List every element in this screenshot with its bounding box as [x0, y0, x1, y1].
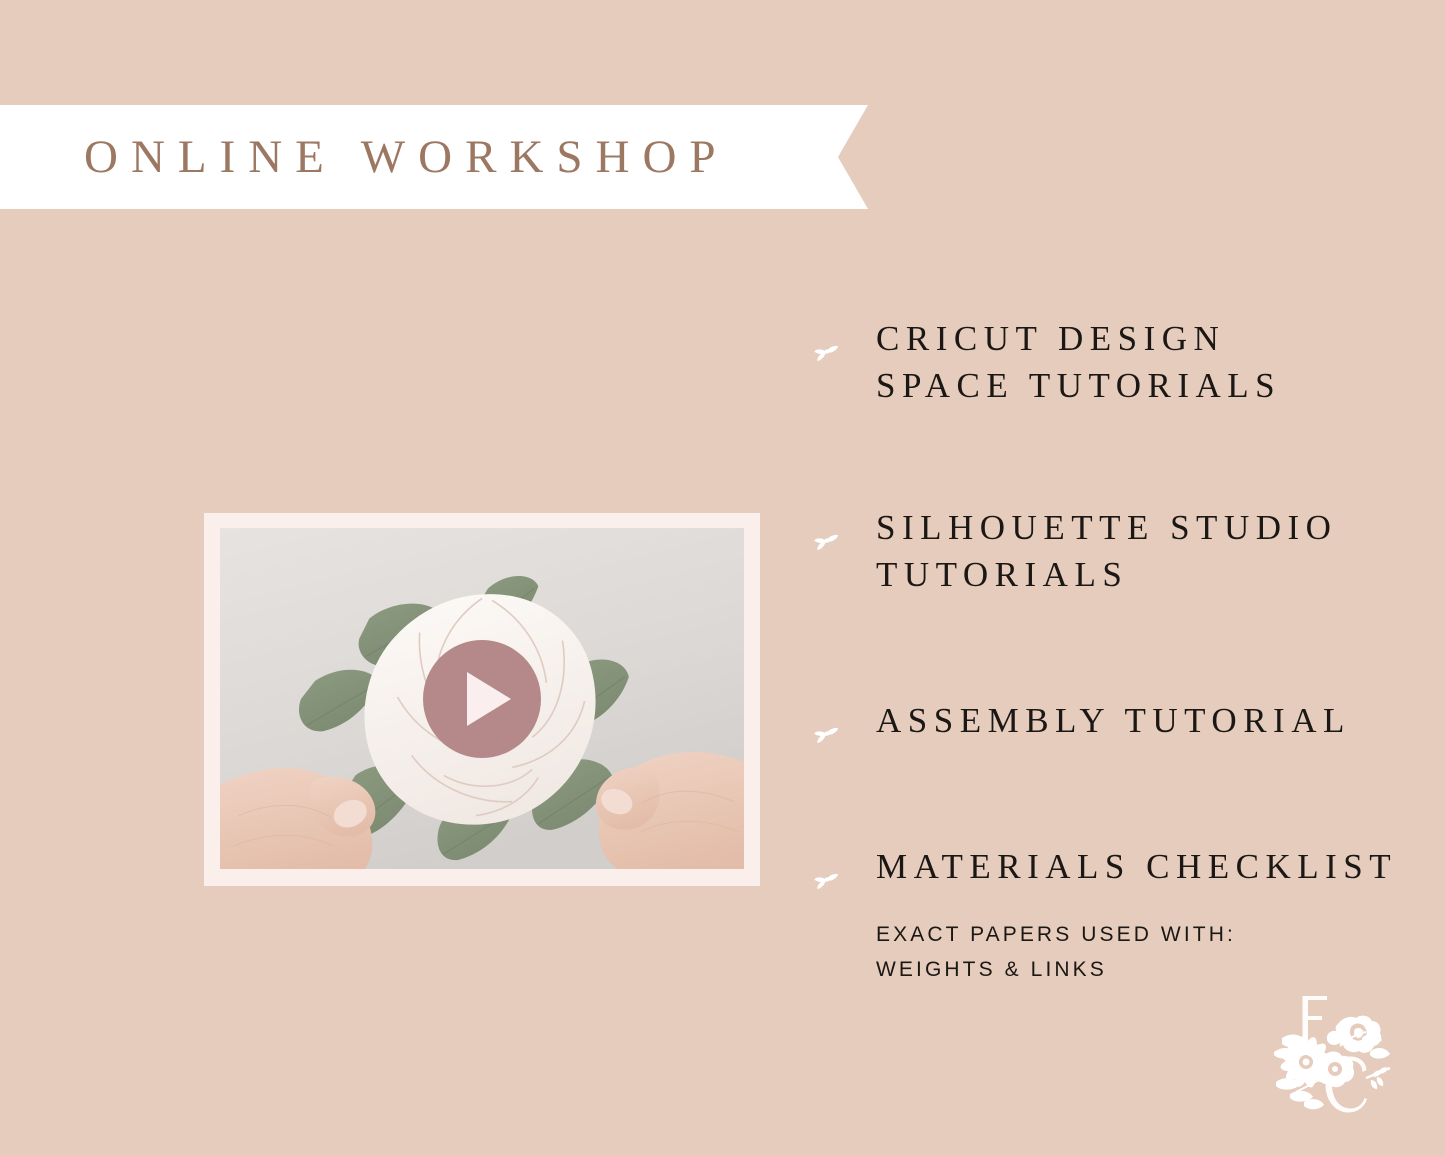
poster-canvas: ONLINE WORKSHOP [0, 0, 1445, 1156]
list-item: MATERIALS CHECKLIST EXACT PAPERS USED WI… [812, 844, 1422, 987]
list-item-sublabel: EXACT PAPERS USED WITH: WEIGHTS & LINKS [876, 917, 1397, 988]
list-item-label: ASSEMBLY TUTORIAL [876, 698, 1422, 745]
brand-logo [1266, 994, 1392, 1120]
list-item: ASSEMBLY TUTORIAL [812, 698, 1422, 748]
leaf-sprig-icon [812, 338, 840, 366]
leaf-sprig-icon [812, 866, 840, 894]
floral-monogram-icon [1266, 994, 1392, 1120]
list-item: SILHOUETTE STUDIO TUTORIALS [812, 505, 1422, 598]
leaf-sprig-icon [812, 527, 840, 555]
list-item-label: MATERIALS CHECKLIST [876, 844, 1397, 891]
list-item: CRICUT DESIGN SPACE TUTORIALS [812, 316, 1422, 409]
play-button[interactable] [423, 640, 541, 758]
page-title: ONLINE WORKSHOP [0, 134, 729, 181]
video-thumbnail-image [220, 528, 744, 869]
play-icon [467, 672, 511, 726]
banner-ribbon: ONLINE WORKSHOP [0, 105, 868, 209]
video-thumbnail[interactable] [204, 513, 760, 886]
list-item-label: CRICUT DESIGN SPACE TUTORIALS [876, 316, 1422, 409]
list-item-label: SILHOUETTE STUDIO TUTORIALS [876, 505, 1422, 598]
feature-list: CRICUT DESIGN SPACE TUTORIALS SILHOUETTE… [812, 300, 1422, 987]
leaf-sprig-icon [812, 720, 840, 748]
